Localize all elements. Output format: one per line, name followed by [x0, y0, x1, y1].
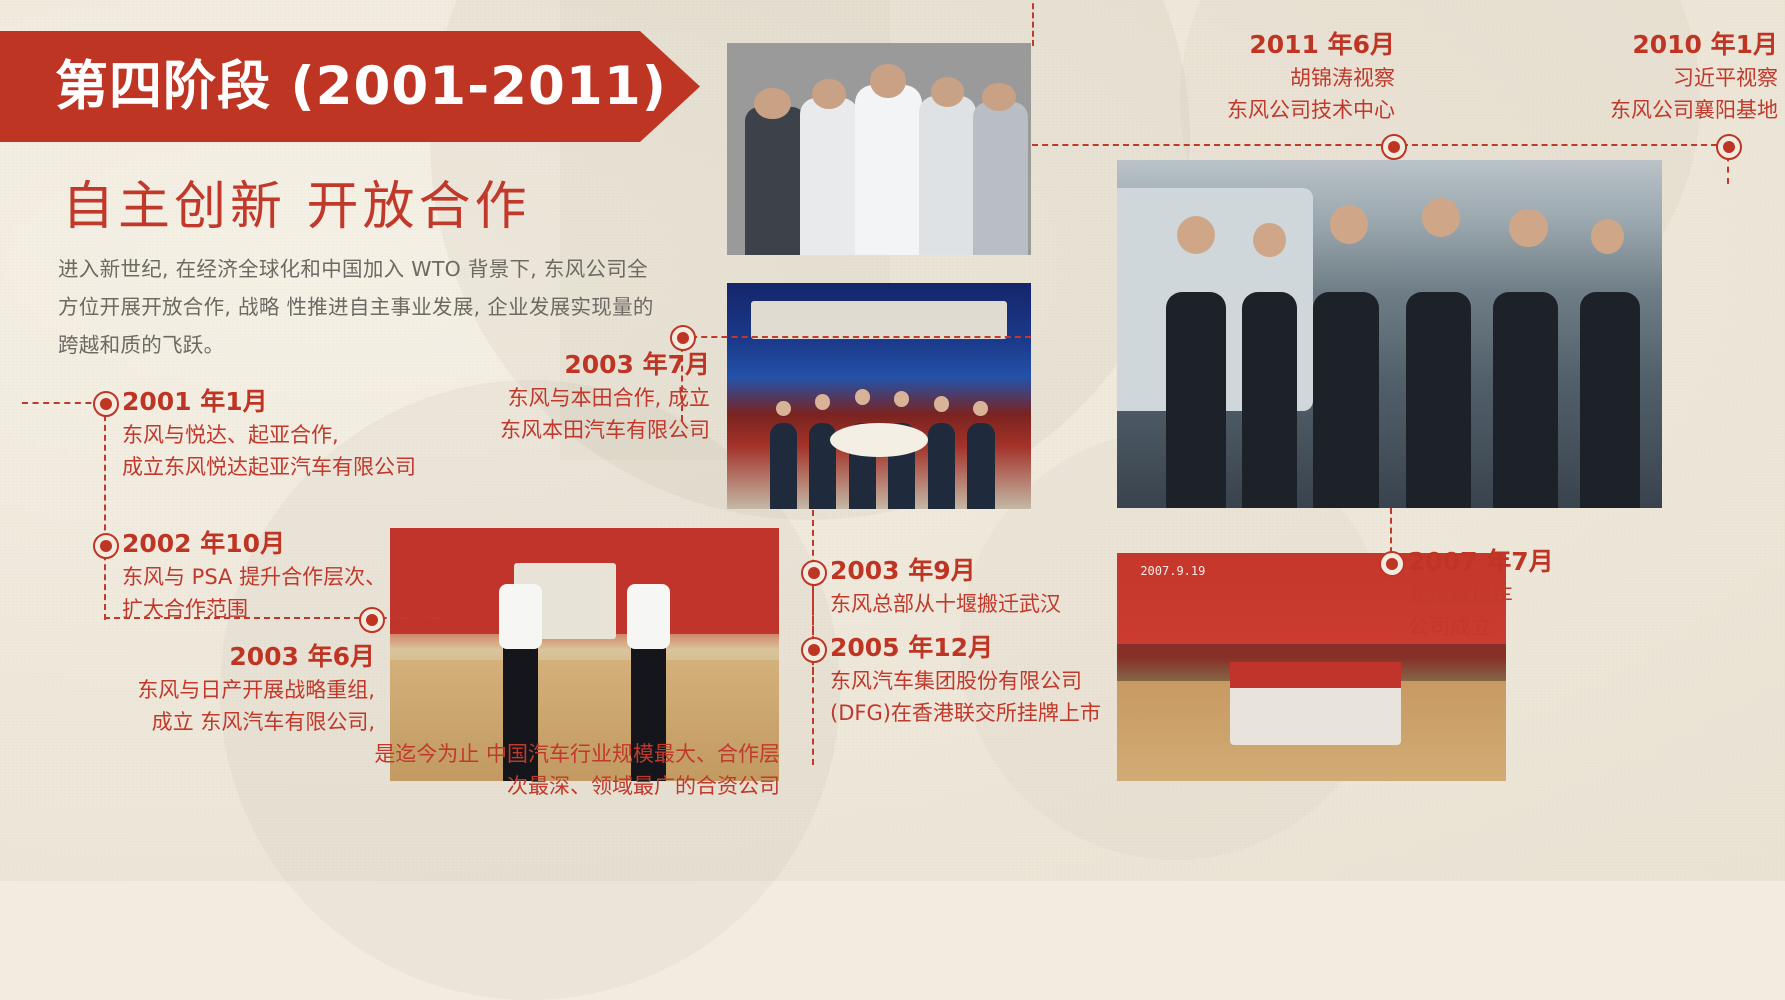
event-2010-01[interactable]: 2010 年1月 习近平视察 东风公司襄阳基地	[1380, 28, 1778, 126]
connector-left-in	[22, 402, 102, 404]
event-date: 2002 年10月	[122, 527, 386, 561]
event-line: 扩大合作范围	[122, 593, 386, 625]
event-line: 东风与本田合作, 成立	[420, 382, 710, 414]
event-line: 习近平视察	[1380, 62, 1778, 94]
marker-2007-07[interactable]	[1379, 551, 1405, 577]
event-line: 公司成立	[1408, 611, 1554, 643]
event-date: 2010 年1月	[1380, 28, 1778, 62]
event-line: 次最深、领域最广的合资公司	[80, 770, 780, 802]
subtitle: 自主创新 开放合作	[62, 164, 531, 239]
event-date: 2003 年7月	[420, 348, 710, 382]
marker-2001-01[interactable]	[93, 391, 119, 417]
marker-2003-06[interactable]	[359, 607, 385, 633]
event-line: 东风与日产开展战略重组,	[80, 674, 780, 706]
marker-2011-06[interactable]	[1381, 134, 1407, 160]
photo-xi-jinping-inspection	[1117, 160, 1662, 508]
photo-dongfeng-honda-conference	[727, 283, 1031, 509]
photo-hu-jintao-inspection	[727, 43, 1031, 255]
stage-title-banner: 第四阶段 (2001-2011)	[0, 31, 700, 142]
event-2005-12[interactable]: 2005 年12月 东风汽车集团股份有限公司 (DFG)在香港联交所挂牌上市	[830, 631, 1101, 729]
event-date: 2011 年6月	[1020, 28, 1395, 62]
event-line: 是迄今为止 中国汽车行业规模最大、合作层	[80, 738, 780, 770]
event-line: 东风与悦达、起亚合作,	[122, 419, 416, 451]
event-line: 成立东风悦达起亚汽车有限公司	[122, 451, 416, 483]
marker-2003-09[interactable]	[801, 560, 827, 586]
event-2003-09[interactable]: 2003 年9月 东风总部从十堰搬迁武汉	[830, 554, 1061, 620]
connector-2011-line	[1032, 144, 1392, 146]
marker-2002-10[interactable]	[93, 533, 119, 559]
event-2001-01[interactable]: 2001 年1月 东风与悦达、起亚合作, 成立东风悦达起亚汽车有限公司	[122, 385, 416, 483]
connector-2010-line	[1392, 144, 1727, 146]
intro-paragraph: 进入新世纪, 在经济全球化和中国加入 WTO 背景下, 东风公司全方位开展开放合…	[58, 250, 658, 364]
event-line: 东风公司襄阳基地	[1380, 94, 1778, 126]
event-line: (DFG)在香港联交所挂牌上市	[830, 697, 1101, 729]
event-line: 东风汽车集团股份有限公司	[830, 665, 1101, 697]
connector-mid-top	[681, 336, 1031, 338]
marker-2003-07[interactable]	[670, 325, 696, 351]
event-date: 2007 年7月	[1408, 545, 1554, 579]
event-line: 成立 东风汽车有限公司,	[80, 706, 780, 738]
connector-mid-lower2	[812, 585, 814, 765]
connector-left-spine	[104, 405, 106, 620]
photo-date-stamp: 2007.9.19	[1140, 564, 1205, 578]
event-2002-10[interactable]: 2002 年10月 东风与 PSA 提升合作层次、 扩大合作范围	[122, 527, 386, 625]
page-title: 第四阶段 (2001-2011)	[55, 60, 667, 113]
event-line: 东风本田汽车有限公司	[420, 414, 710, 446]
event-line: 东风公司技术中心	[1020, 94, 1395, 126]
event-date: 2001 年1月	[122, 385, 416, 419]
event-2003-06[interactable]: 2003 年6月 东风与日产开展战略重组, 成立 东风汽车有限公司, 是迄今为止…	[80, 640, 780, 802]
event-2011-06[interactable]: 2011 年6月 胡锦涛视察 东风公司技术中心	[1020, 28, 1395, 126]
event-line: 东风乘用车	[1408, 579, 1554, 611]
event-line: 东风与 PSA 提升合作层次、	[122, 561, 386, 593]
event-line: 胡锦涛视察	[1020, 62, 1395, 94]
event-2003-07[interactable]: 2003 年7月 东风与本田合作, 成立 东风本田汽车有限公司	[420, 348, 710, 446]
event-line: 东风总部从十堰搬迁武汉	[830, 588, 1061, 620]
event-date: 2003 年9月	[830, 554, 1061, 588]
event-2007-07[interactable]: 2007 年7月 东风乘用车 公司成立	[1408, 545, 1554, 643]
event-date: 2003 年6月	[80, 640, 780, 674]
marker-2005-12[interactable]	[801, 637, 827, 663]
marker-2010-01[interactable]	[1716, 134, 1742, 160]
event-date: 2005 年12月	[830, 631, 1101, 665]
